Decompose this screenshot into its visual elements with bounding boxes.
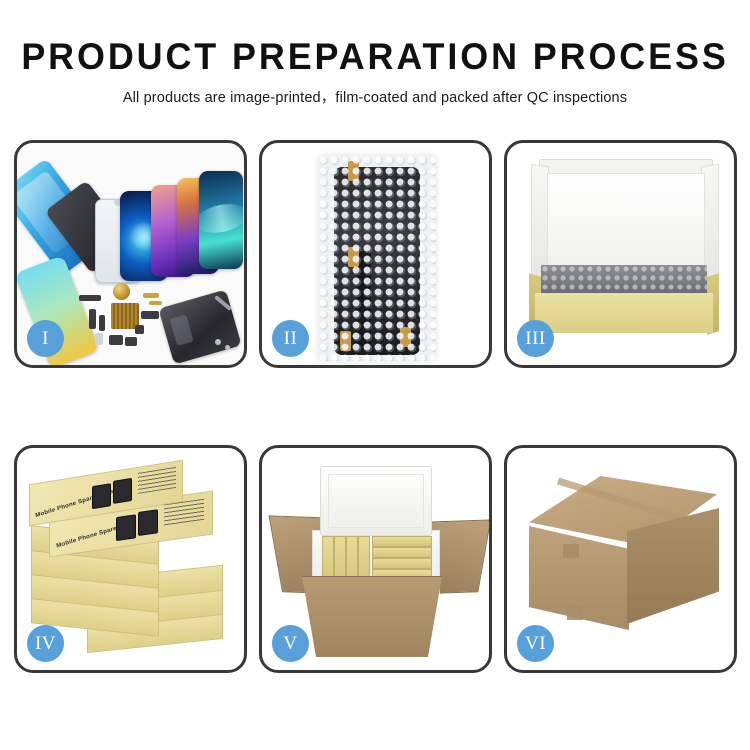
process-step-panel-3[interactable]: III bbox=[504, 140, 737, 368]
process-step-panel-5[interactable]: V bbox=[259, 445, 492, 673]
gold-connector-part-icon bbox=[149, 301, 162, 305]
process-step-panel-4[interactable]: Mobile Phone Spare Parts Mobile Phone Sp… bbox=[14, 445, 247, 673]
packed-yellow-box bbox=[372, 558, 432, 569]
screw-part-icon bbox=[215, 339, 221, 345]
carton-tape-patch bbox=[563, 544, 579, 558]
label-phone-image bbox=[138, 509, 158, 536]
bubble-texture bbox=[318, 155, 436, 361]
label-phone-image bbox=[113, 478, 132, 504]
page-subtitle: All products are image-printed，film-coat… bbox=[0, 86, 750, 107]
button-part-icon bbox=[135, 325, 144, 334]
camera-lens-part-icon bbox=[113, 283, 130, 300]
step-badge-6: VI bbox=[517, 625, 554, 662]
carton-tape-patch bbox=[567, 606, 583, 620]
page-header: PRODUCT PREPARATION PROCESS All products… bbox=[0, 0, 750, 107]
process-panel-grid: I II III bbox=[14, 140, 736, 673]
step-badge-5: V bbox=[272, 625, 309, 662]
step-badge-3: III bbox=[517, 320, 554, 357]
process-step-panel-6[interactable]: VI bbox=[504, 445, 737, 673]
yellow-box-front bbox=[535, 293, 713, 333]
step-badge-2: II bbox=[272, 320, 309, 357]
label-spec-lines bbox=[138, 467, 176, 494]
carton-body bbox=[302, 576, 442, 657]
step-badge-1: I bbox=[27, 320, 64, 357]
receiver-part-icon bbox=[125, 337, 137, 346]
phone-teal-wallpaper-icon bbox=[199, 171, 243, 269]
page-title: PRODUCT PREPARATION PROCESS bbox=[11, 38, 739, 77]
packed-yellow-box bbox=[372, 536, 432, 547]
bubble-wrap-bag bbox=[318, 155, 436, 361]
label-phone-image bbox=[116, 514, 136, 541]
phone-back-housing-icon bbox=[158, 289, 241, 364]
speaker-part-icon bbox=[79, 295, 101, 301]
ribbon-cable-part-icon bbox=[141, 311, 159, 319]
foam-box-lid bbox=[320, 466, 432, 536]
process-step-panel-1[interactable]: I bbox=[14, 140, 247, 368]
process-step-panel-2[interactable]: II bbox=[259, 140, 492, 368]
step-badge-4: IV bbox=[27, 625, 64, 662]
label-phone-image bbox=[92, 483, 111, 509]
sim-tray-part-icon bbox=[95, 333, 103, 345]
small-flex-part-icon bbox=[99, 315, 105, 331]
vibrator-part-icon bbox=[109, 335, 123, 345]
gold-flex-part-icon bbox=[143, 293, 159, 298]
flex-cable-part-icon bbox=[89, 309, 96, 329]
packed-yellow-box bbox=[372, 547, 432, 558]
screw-part-icon bbox=[225, 345, 230, 350]
